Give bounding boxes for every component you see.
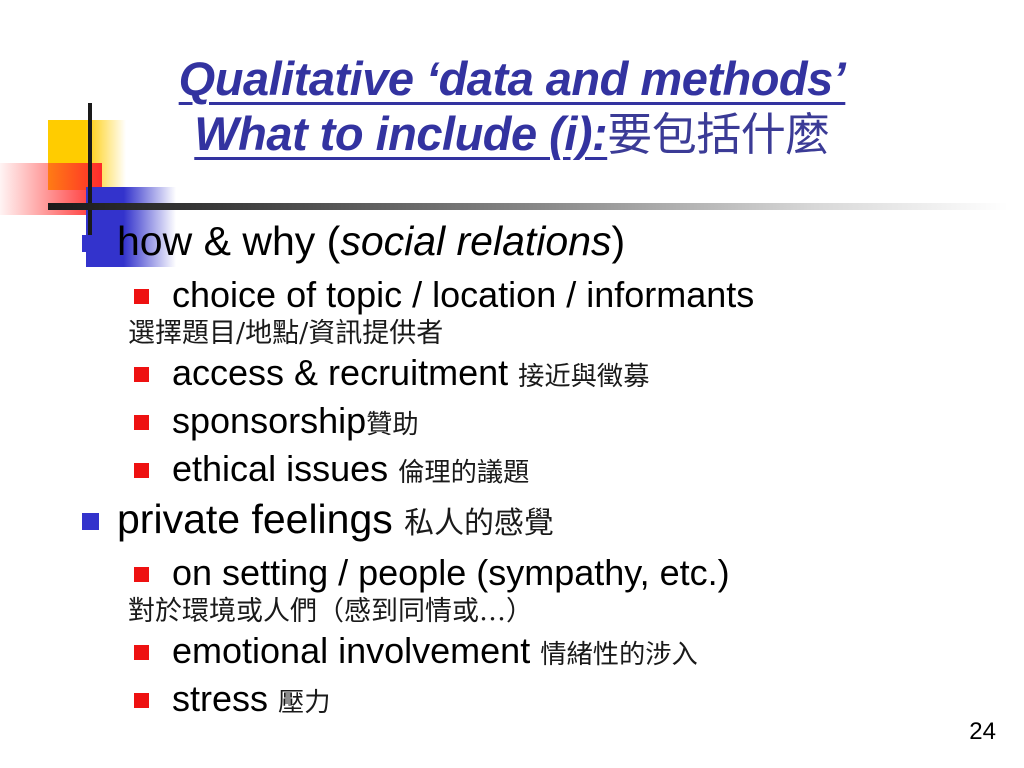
chinese-gloss: 私人的感覺 — [404, 506, 554, 541]
bullet-stress: stress 壓力 — [0, 678, 1024, 726]
english-text: emotional involvement — [172, 630, 540, 671]
english-text: stress — [172, 678, 278, 719]
bullet-how-and-why: how & why (social relations) — [0, 218, 1024, 274]
bullet-stress-label: stress 壓力 — [172, 678, 331, 719]
chinese-gloss: 壓力 — [278, 688, 331, 718]
chinese-gloss: 接近與徵募 — [518, 362, 649, 392]
bullet-choice-of-topic: choice of topic / location / informants — [0, 274, 1024, 322]
bullet-square-icon — [134, 415, 149, 430]
bullet-square-icon — [134, 463, 149, 478]
slide-number: 24 — [969, 718, 996, 746]
bullet-sponsorship: sponsorship贊助 — [0, 400, 1024, 448]
bullet-private-feelings-label: private feelings 私人的感覺 — [117, 496, 554, 543]
english-text: ethical issues — [172, 448, 398, 489]
bullet-square-icon — [82, 513, 99, 530]
bullet-on-setting-people: on setting / people (sympathy, etc.) — [0, 552, 1024, 600]
chinese-gloss: 倫理的議題 — [398, 458, 529, 488]
bullet-ethical-issues-label: ethical issues 倫理的議題 — [172, 448, 529, 489]
bullet-square-icon — [134, 645, 149, 660]
chinese-gloss: 情緒性的涉入 — [540, 640, 698, 670]
title-line-2-chinese: 要包括什麼 — [607, 108, 830, 161]
text-after: ) — [612, 218, 626, 264]
bullet-square-icon — [134, 367, 149, 382]
bullet-sponsorship-label: sponsorship贊助 — [172, 400, 419, 441]
slide-title: Qualitative ‘data and methods’ What to i… — [0, 52, 1024, 161]
bullet-square-icon — [134, 567, 149, 582]
title-line-1: Qualitative ‘data and methods’ — [0, 52, 1024, 107]
english-text: access & recruitment — [172, 352, 518, 393]
bullet-square-icon — [82, 235, 99, 252]
bullet-emotional-involvement: emotional involvement 情緒性的涉入 — [0, 630, 1024, 678]
bullet-square-icon — [134, 289, 149, 304]
title-line-1-text: Qualitative ‘data and methods’ — [179, 52, 846, 105]
bullet-how-and-why-label: how & why (social relations) — [117, 218, 625, 265]
chinese-gloss: 贊助 — [366, 410, 419, 440]
gloss-on-setting-people: 對於環境或人們（感到同情或…） — [0, 596, 1024, 628]
bullet-on-setting-people-label: on setting / people (sympathy, etc.) — [172, 552, 730, 593]
bullet-access-recruitment-label: access & recruitment 接近與徵募 — [172, 352, 649, 393]
bullet-access-recruitment: access & recruitment 接近與徵募 — [0, 352, 1024, 400]
title-line-2-english: What to include (i): — [194, 107, 607, 160]
bullet-private-feelings: private feelings 私人的感覺 — [0, 496, 1024, 552]
text-before: how & why ( — [117, 218, 340, 264]
text-italic: social relations — [340, 218, 611, 264]
gloss-choice-of-topic: 選擇題目/地點/資訊提供者 — [0, 318, 1024, 350]
bullet-ethical-issues: ethical issues 倫理的議題 — [0, 448, 1024, 496]
english-text: private feelings — [117, 496, 404, 542]
title-divider — [48, 203, 1008, 210]
title-line-2: What to include (i):要包括什麼 — [0, 107, 1024, 162]
bullet-emotional-involvement-label: emotional involvement 情緒性的涉入 — [172, 630, 698, 671]
bullet-choice-of-topic-label: choice of topic / location / informants — [172, 274, 754, 315]
english-text: sponsorship — [172, 400, 366, 441]
bullet-square-icon — [134, 693, 149, 708]
slide-body: how & why (social relations) choice of t… — [0, 218, 1024, 726]
